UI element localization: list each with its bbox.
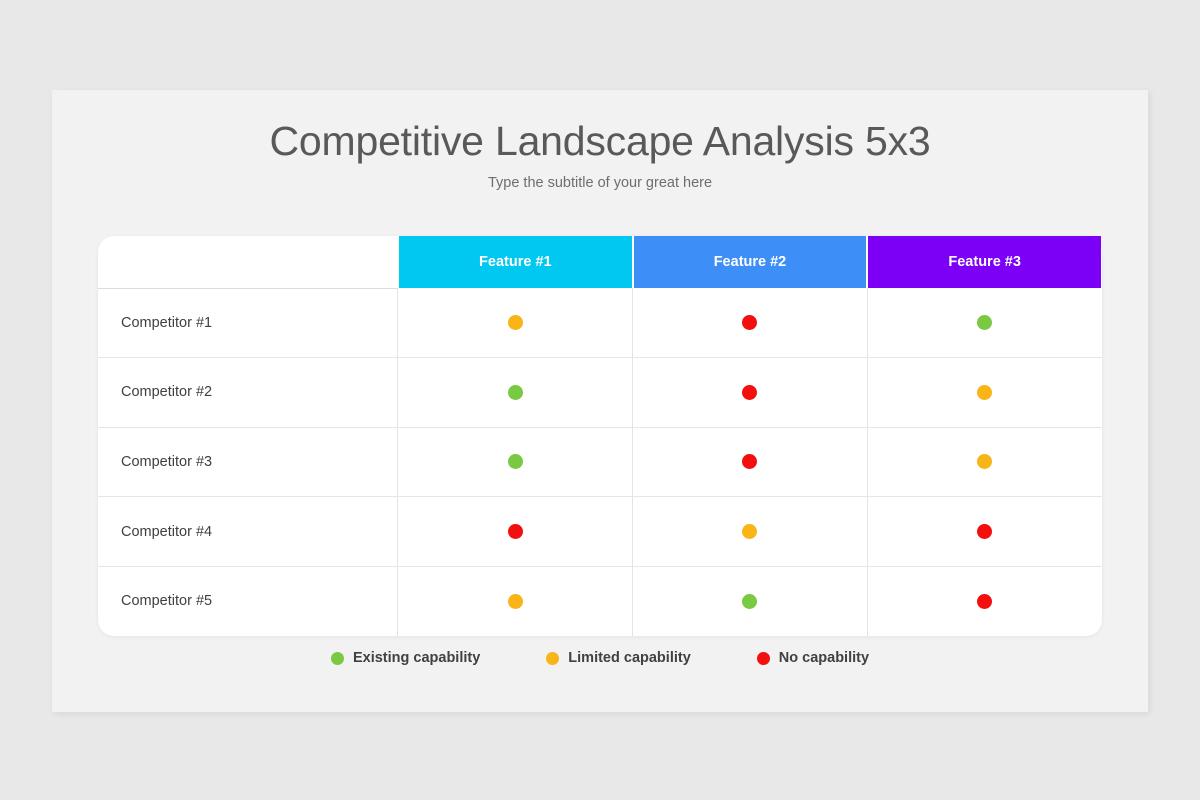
table-body: Competitor #1Competitor #2Competitor #3C… [98,288,1102,636]
legend-item-red: No capability [757,650,869,666]
competitive-matrix-table: Feature #1Feature #2Feature #3 Competito… [98,236,1102,636]
status-cell[interactable] [633,427,868,497]
status-cell[interactable] [633,358,868,428]
status-dot-green [742,594,757,609]
table-row: Competitor #5 [98,566,1102,636]
status-dot-green [977,315,992,330]
legend: Existing capabilityLimited capabilityNo … [52,650,1148,666]
status-dot-red [977,594,992,609]
legend-dot-yellow [546,652,559,665]
status-cell[interactable] [398,566,633,636]
status-cell[interactable] [398,427,633,497]
legend-item-green: Existing capability [331,650,480,666]
slide-canvas: Competitive Landscape Analysis 5x3 Type … [52,90,1148,712]
status-cell[interactable] [633,288,868,358]
competitor-label: Competitor #5 [98,566,398,636]
legend-dot-green [331,652,344,665]
column-header-label: Feature #3 [868,236,1101,288]
status-cell[interactable] [867,497,1102,567]
column-header-label: Feature #1 [399,236,632,288]
status-cell[interactable] [867,288,1102,358]
status-cell[interactable] [398,288,633,358]
status-dot-yellow [977,454,992,469]
status-dot-yellow [508,315,523,330]
table-header-row: Feature #1Feature #2Feature #3 [98,236,1102,288]
column-header-feature-3[interactable]: Feature #3 [867,236,1102,288]
competitor-label: Competitor #1 [98,288,398,358]
legend-label: No capability [779,650,869,666]
legend-label: Limited capability [568,650,690,666]
page-subtitle: Type the subtitle of your great here [52,175,1148,191]
table-header: Feature #1Feature #2Feature #3 [98,236,1102,288]
competitor-label: Competitor #2 [98,358,398,428]
status-dot-red [508,524,523,539]
status-cell[interactable] [633,566,868,636]
status-cell[interactable] [867,566,1102,636]
status-dot-yellow [508,594,523,609]
status-dot-red [742,315,757,330]
status-dot-yellow [742,524,757,539]
status-cell[interactable] [867,358,1102,428]
competitor-label: Competitor #3 [98,427,398,497]
comparison-card: Feature #1Feature #2Feature #3 Competito… [98,236,1102,636]
status-dot-red [977,524,992,539]
status-cell[interactable] [398,497,633,567]
status-cell[interactable] [867,427,1102,497]
column-header-feature-1[interactable]: Feature #1 [398,236,633,288]
status-dot-green [508,385,523,400]
status-dot-yellow [977,385,992,400]
page-title: Competitive Landscape Analysis 5x3 [52,118,1148,165]
column-header-feature-2[interactable]: Feature #2 [633,236,868,288]
column-header-label: Feature #2 [634,236,867,288]
status-dot-green [508,454,523,469]
status-dot-red [742,385,757,400]
table-row: Competitor #2 [98,358,1102,428]
status-cell[interactable] [633,497,868,567]
table-row: Competitor #1 [98,288,1102,358]
legend-item-yellow: Limited capability [546,650,690,666]
table-corner-cell [98,236,398,288]
table-row: Competitor #4 [98,497,1102,567]
status-cell[interactable] [398,358,633,428]
legend-label: Existing capability [353,650,480,666]
competitor-label: Competitor #4 [98,497,398,567]
status-dot-red [742,454,757,469]
table-row: Competitor #3 [98,427,1102,497]
legend-dot-red [757,652,770,665]
